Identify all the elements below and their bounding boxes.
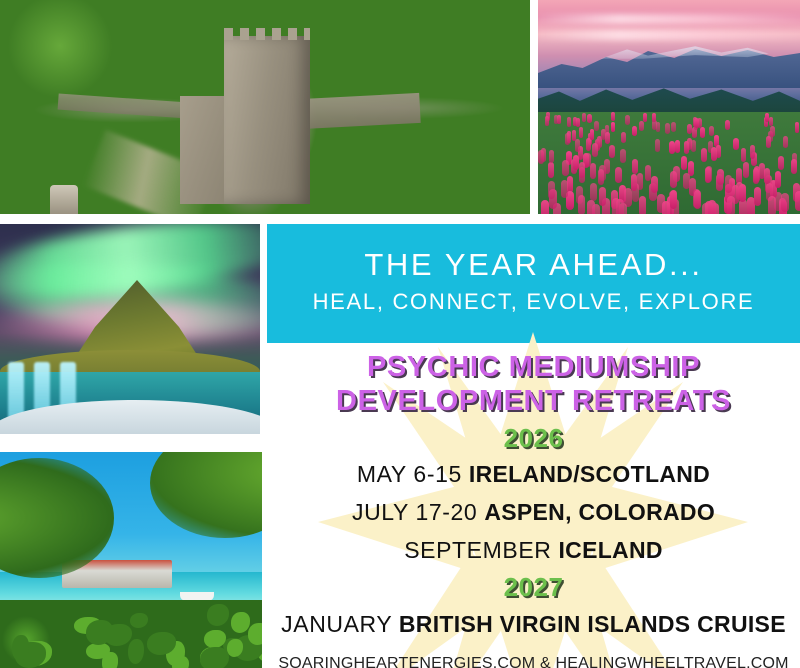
banner-title: THE YEAR AHEAD...	[364, 249, 702, 282]
wildflower-bloom	[770, 126, 775, 137]
photo-caribbean-beach	[0, 452, 262, 668]
wildflower-bloom	[691, 140, 696, 153]
leaf	[130, 613, 148, 628]
wildflower-bloom	[727, 196, 735, 214]
year-heading-2026: 2026	[267, 425, 800, 451]
wildflower-bloom	[621, 132, 626, 144]
wildflower-bloom	[565, 133, 570, 145]
wildflower-bloom	[604, 159, 610, 174]
wildflower-bloom	[705, 167, 711, 183]
wildflower-bloom	[701, 148, 707, 162]
wildflower-bloom	[765, 113, 769, 122]
wildflower-bloom	[670, 171, 677, 188]
event-date: SEPTEMBER	[404, 537, 551, 563]
year-heading-2027: 2027	[267, 574, 800, 600]
wildflower-bloom	[725, 120, 729, 130]
wildflower-bloom	[561, 180, 568, 198]
wildflower-bloom	[554, 115, 558, 124]
heading-line-2: DEVELOPMENT RETREATS	[267, 387, 800, 416]
wildflower-bloom	[739, 184, 746, 202]
wildflower-bloom	[609, 145, 614, 158]
wildflower-bloom	[683, 173, 690, 190]
event-destination: IRELAND/SCOTLAND	[469, 461, 710, 487]
wildflower-bloom	[541, 200, 549, 214]
wildflower-bloom	[575, 139, 580, 152]
wildflower-bloom	[662, 201, 670, 214]
wildflower-bloom	[708, 200, 716, 214]
castle-outer-wall-right	[299, 93, 420, 129]
wildflower-bloom	[733, 138, 738, 150]
wildflower-bloom	[611, 112, 615, 121]
wildflower-bloom	[669, 141, 674, 154]
sunset-cloud-band	[538, 14, 800, 24]
wildflower-bloom	[615, 167, 621, 183]
heading-line-1: PSYCHIC MEDIUMSHIP	[267, 353, 800, 382]
photo-aurora-iceland	[0, 224, 260, 434]
wildflower-bloom	[632, 159, 638, 174]
wildflower-bloom	[572, 130, 577, 141]
leaf	[172, 656, 189, 668]
wildflower-bloom	[791, 159, 797, 174]
wildflower-bloom	[753, 168, 759, 184]
mountain-ridge	[538, 38, 800, 88]
wildflower-bloom	[590, 183, 597, 201]
retreat-details-panel: PSYCHIC MEDIUMSHIP DEVELOPMENT RETREATS …	[267, 345, 800, 668]
wildflower-bloom	[670, 190, 677, 209]
wildflower-bloom	[587, 114, 591, 123]
event-row: MAY 6-15 IRELAND/SCOTLAND	[267, 463, 800, 486]
event-row: SEPTEMBER ICELAND	[267, 539, 800, 562]
wildflower-bloom	[579, 127, 584, 138]
wildflower-bloom	[592, 143, 597, 156]
wildflower-bloom	[632, 126, 637, 137]
wildflower-bloom	[795, 122, 799, 132]
wildflower-bloom	[743, 162, 749, 178]
wildflower-bloom	[709, 126, 714, 137]
wildflower-bloom	[700, 127, 705, 138]
leaf	[12, 635, 29, 661]
wildflower-bloom	[795, 191, 800, 210]
wildflower-bloom	[548, 162, 554, 178]
wildflower-bloom	[684, 141, 689, 154]
wildflower-bloom	[768, 196, 776, 214]
wildflower-bloom	[681, 156, 687, 171]
event-destination: BRITISH VIRGIN ISLANDS CRUISE	[399, 611, 786, 637]
event-destination: ASPEN, COLORADO	[484, 499, 715, 525]
wildflower-bloom	[599, 187, 606, 206]
event-date: JANUARY	[281, 611, 392, 637]
flower-meadow	[538, 112, 800, 214]
wildflower-bloom	[578, 195, 586, 214]
wildflower-bloom	[694, 118, 698, 128]
event-row: JULY 17-20 ASPEN, COLORADO	[267, 501, 800, 524]
wildflower-bloom	[582, 113, 586, 122]
wildflower-bloom	[754, 187, 761, 206]
waterfall	[34, 362, 50, 412]
wildflower-bloom	[616, 199, 624, 214]
wildflower-bloom	[665, 123, 669, 133]
photo-castle-ireland	[0, 0, 530, 214]
wildflower-bloom	[687, 124, 692, 135]
wildflower-bloom	[764, 168, 770, 184]
wildflower-bloom	[655, 139, 660, 152]
wildflower-bloom	[717, 169, 723, 185]
wildflower-bloom	[750, 145, 755, 158]
wildflower-bloom	[694, 190, 701, 209]
castle-tower	[224, 36, 310, 204]
wildflower-bloom	[725, 175, 732, 192]
wildflower-bloom	[594, 121, 598, 131]
wildflower-bloom	[781, 193, 789, 213]
leaf	[207, 604, 230, 627]
wildflower-bloom	[639, 196, 647, 214]
wildflower-bloom	[598, 169, 604, 185]
wildflower-bloom	[766, 136, 771, 148]
sunset-cloud-band	[538, 30, 800, 40]
banner-subtitle: HEAL, CONNECT, EVOLVE, EXPLORE	[313, 290, 755, 314]
footer-websites: SOARINGHEARTENERGIES.COM & HEALINGWHEELT…	[267, 655, 800, 668]
wildflower-bloom	[562, 160, 568, 175]
wildflower-bloom	[586, 138, 591, 150]
wildflower-bloom	[652, 113, 656, 122]
event-destination: ICELAND	[558, 537, 662, 563]
wildflower-bloom	[643, 113, 647, 122]
wildflower-bloom	[783, 136, 788, 148]
wildflower-bloom	[611, 122, 615, 132]
event-date: JULY 17-20	[352, 499, 477, 525]
event-date: MAY 6-15	[357, 461, 462, 487]
wildflower-bloom	[590, 163, 596, 179]
wildflower-bloom	[741, 148, 747, 162]
wildflower-bloom	[585, 153, 591, 167]
wildflower-bloom	[576, 118, 580, 128]
wildflower-bloom	[545, 116, 549, 126]
leaf	[204, 630, 226, 648]
wildflower-bloom	[587, 200, 595, 214]
wildflower-bloom	[567, 117, 571, 127]
wildflower-bloom	[541, 148, 547, 162]
palm-frond-right	[150, 452, 262, 538]
wildflower-bloom	[639, 121, 643, 131]
event-row: JANUARY BRITISH VIRGIN ISLANDS CRUISE	[267, 613, 800, 636]
wildflower-bloom	[625, 115, 629, 124]
wildflower-bloom	[590, 129, 595, 140]
photo-wildflowers-mountains	[538, 0, 800, 214]
wildflower-bloom	[775, 171, 782, 188]
wildflower-bloom	[573, 155, 579, 170]
wildflower-bloom	[605, 132, 610, 144]
poster-canvas: THE YEAR AHEAD... HEAL, CONNECT, EVOLVE,…	[0, 0, 800, 668]
banner-the-year-ahead: THE YEAR AHEAD... HEAL, CONNECT, EVOLVE,…	[267, 224, 800, 343]
wildflower-bloom	[656, 122, 660, 132]
leaf	[200, 647, 229, 668]
wildflower-bloom	[549, 150, 555, 164]
wildflower-bloom	[631, 174, 638, 191]
wildflower-bloom	[711, 147, 717, 161]
wildflower-bloom	[675, 140, 680, 153]
stone-post	[50, 185, 78, 214]
wildflower-bloom	[671, 122, 675, 132]
wildflower-bloom	[548, 181, 555, 199]
sea-grape-foliage	[0, 600, 262, 668]
wildflower-bloom	[769, 117, 773, 127]
leaf	[128, 639, 144, 664]
wildflower-bloom	[778, 156, 784, 171]
wildflower-bloom	[579, 162, 585, 178]
wildflower-bloom	[651, 176, 658, 193]
castle-outer-wall-left	[58, 93, 189, 118]
wildflower-bloom	[620, 149, 626, 163]
